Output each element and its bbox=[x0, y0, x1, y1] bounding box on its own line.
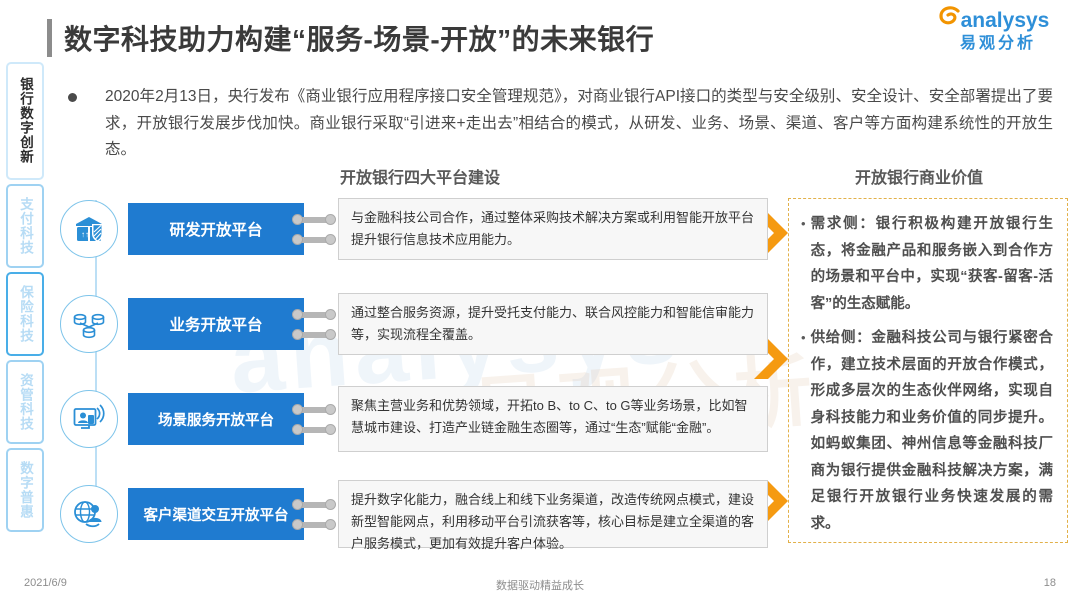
page-title: 数字科技助力构建“服务-场景-开放”的未来银行 bbox=[47, 18, 654, 58]
platform-description: 聚焦主营业务和优势领域，开拓to B、to C、to G等业务场景，比如智慧城市… bbox=[338, 386, 768, 452]
chain-link-connector bbox=[304, 488, 330, 540]
business-value-panel: • 需求侧：银行积极构建开放银行生态，将金融产品和服务嵌入到合作方的场景和平台中… bbox=[788, 198, 1068, 543]
bullet-icon: • bbox=[801, 325, 806, 537]
platform-row: 场景服务开放平台 聚焦主营业务和优势领域，开拓to B、to C、to G等业务… bbox=[60, 386, 768, 452]
chain-link-connector bbox=[304, 393, 330, 445]
platform-description: 与金融科技公司合作，通过整体采购技术解决方案或利用智能开放平台提升银行信息技术应… bbox=[338, 198, 768, 260]
title-text: 数字科技助力构建“服务-场景-开放”的未来银行 bbox=[64, 18, 654, 58]
title-accent-bar bbox=[47, 19, 52, 57]
footer: 2021/6/9 数据驱动精益成长 18 bbox=[0, 574, 1080, 600]
footer-page-number: 18 bbox=[1044, 577, 1056, 589]
sidebar-tabs: 银行数字创新 支付科技 保险科技 资管科技 数字普惠 bbox=[6, 62, 44, 536]
bullet-dot-icon bbox=[68, 93, 77, 102]
sidebar-item-digital-inclusive-finance[interactable]: 数字普惠 bbox=[6, 448, 44, 532]
screen-user-icon bbox=[60, 390, 118, 448]
logo-wordmark: analysys bbox=[938, 10, 1058, 32]
logo-swirl-icon bbox=[938, 5, 964, 29]
platform-row: ↑↑ 研发开放平台 与金融科技公司合作，通过整体采购技术解决方案或利用智能开放平… bbox=[60, 198, 768, 260]
sidebar-item-bank-digital-innovation[interactable]: 银行数字创新 bbox=[6, 62, 44, 180]
left-column-heading: 开放银行四大平台建设 bbox=[340, 164, 500, 188]
platform-row: 客户渠道交互开放平台 提升数字化能力，融合线上和线下业务渠道，改造传统网点模式，… bbox=[60, 480, 768, 548]
platform-description: 提升数字化能力，融合线上和线下业务渠道，改造传统网点模式，建设新型智能网点，利用… bbox=[338, 480, 768, 548]
sidebar-item-label: 资管科技 bbox=[17, 373, 33, 431]
analysys-logo: analysys 易观分析 bbox=[938, 10, 1058, 54]
coins-stack-icon bbox=[60, 295, 118, 353]
sidebar-item-asset-management-tech[interactable]: 资管科技 bbox=[6, 360, 44, 444]
footer-slogan: 数据驱动精益成长 bbox=[0, 577, 1080, 593]
bank-shield-icon: ↑↑ bbox=[60, 200, 118, 258]
sidebar-item-label: 保险科技 bbox=[17, 285, 33, 343]
value-text: 供给侧：金融科技公司与银行紧密合作，建立技术层面的开放合作模式，形成多层次的生态… bbox=[811, 325, 1053, 537]
chain-link-connector bbox=[304, 203, 330, 255]
logo-main-text: analysys bbox=[961, 9, 1050, 32]
platform-label[interactable]: 业务开放平台 bbox=[128, 298, 304, 350]
sidebar-item-insurance-tech[interactable]: 保险科技 bbox=[6, 272, 44, 356]
platform-row: 业务开放平台 通过整合服务资源，提升受托支付能力、联合风控能力和智能信审能力等，… bbox=[60, 293, 768, 355]
chain-link-connector bbox=[304, 298, 330, 350]
globe-user-icon bbox=[60, 485, 118, 543]
platform-label[interactable]: 客户渠道交互开放平台 bbox=[128, 488, 304, 540]
right-column-heading: 开放银行商业价值 bbox=[855, 164, 983, 188]
sidebar-item-payment-tech[interactable]: 支付科技 bbox=[6, 184, 44, 268]
bullet-icon: • bbox=[801, 211, 806, 317]
value-list-item: • 需求侧：银行积极构建开放银行生态，将金融产品和服务嵌入到合作方的场景和平台中… bbox=[801, 211, 1053, 317]
value-list-item: • 供给侧：金融科技公司与银行紧密合作，建立技术层面的开放合作模式，形成多层次的… bbox=[801, 325, 1053, 537]
platform-label[interactable]: 场景服务开放平台 bbox=[128, 393, 304, 445]
platform-label[interactable]: 研发开放平台 bbox=[128, 203, 304, 255]
platform-description: 通过整合服务资源，提升受托支付能力、联合风控能力和智能信审能力等，实现流程全覆盖… bbox=[338, 293, 768, 355]
sidebar-item-label: 银行数字创新 bbox=[17, 77, 33, 164]
sidebar-item-label: 支付科技 bbox=[17, 197, 33, 255]
svg-text:↑↑: ↑↑ bbox=[81, 230, 89, 239]
intro-text: 2020年2月13日，央行发布《商业银行应用程序接口安全管理规范》，对商业银行A… bbox=[105, 84, 1053, 164]
logo-sub-text: 易观分析 bbox=[938, 34, 1058, 54]
intro-paragraph: 2020年2月13日，央行发布《商业银行应用程序接口安全管理规范》，对商业银行A… bbox=[68, 84, 1053, 164]
value-text: 需求侧：银行积极构建开放银行生态，将金融产品和服务嵌入到合作方的场景和平台中，实… bbox=[811, 211, 1053, 317]
slide-root: 数字科技助力构建“服务-场景-开放”的未来银行 analysys 易观分析 银行… bbox=[0, 0, 1080, 608]
sidebar-item-label: 数字普惠 bbox=[17, 461, 33, 519]
